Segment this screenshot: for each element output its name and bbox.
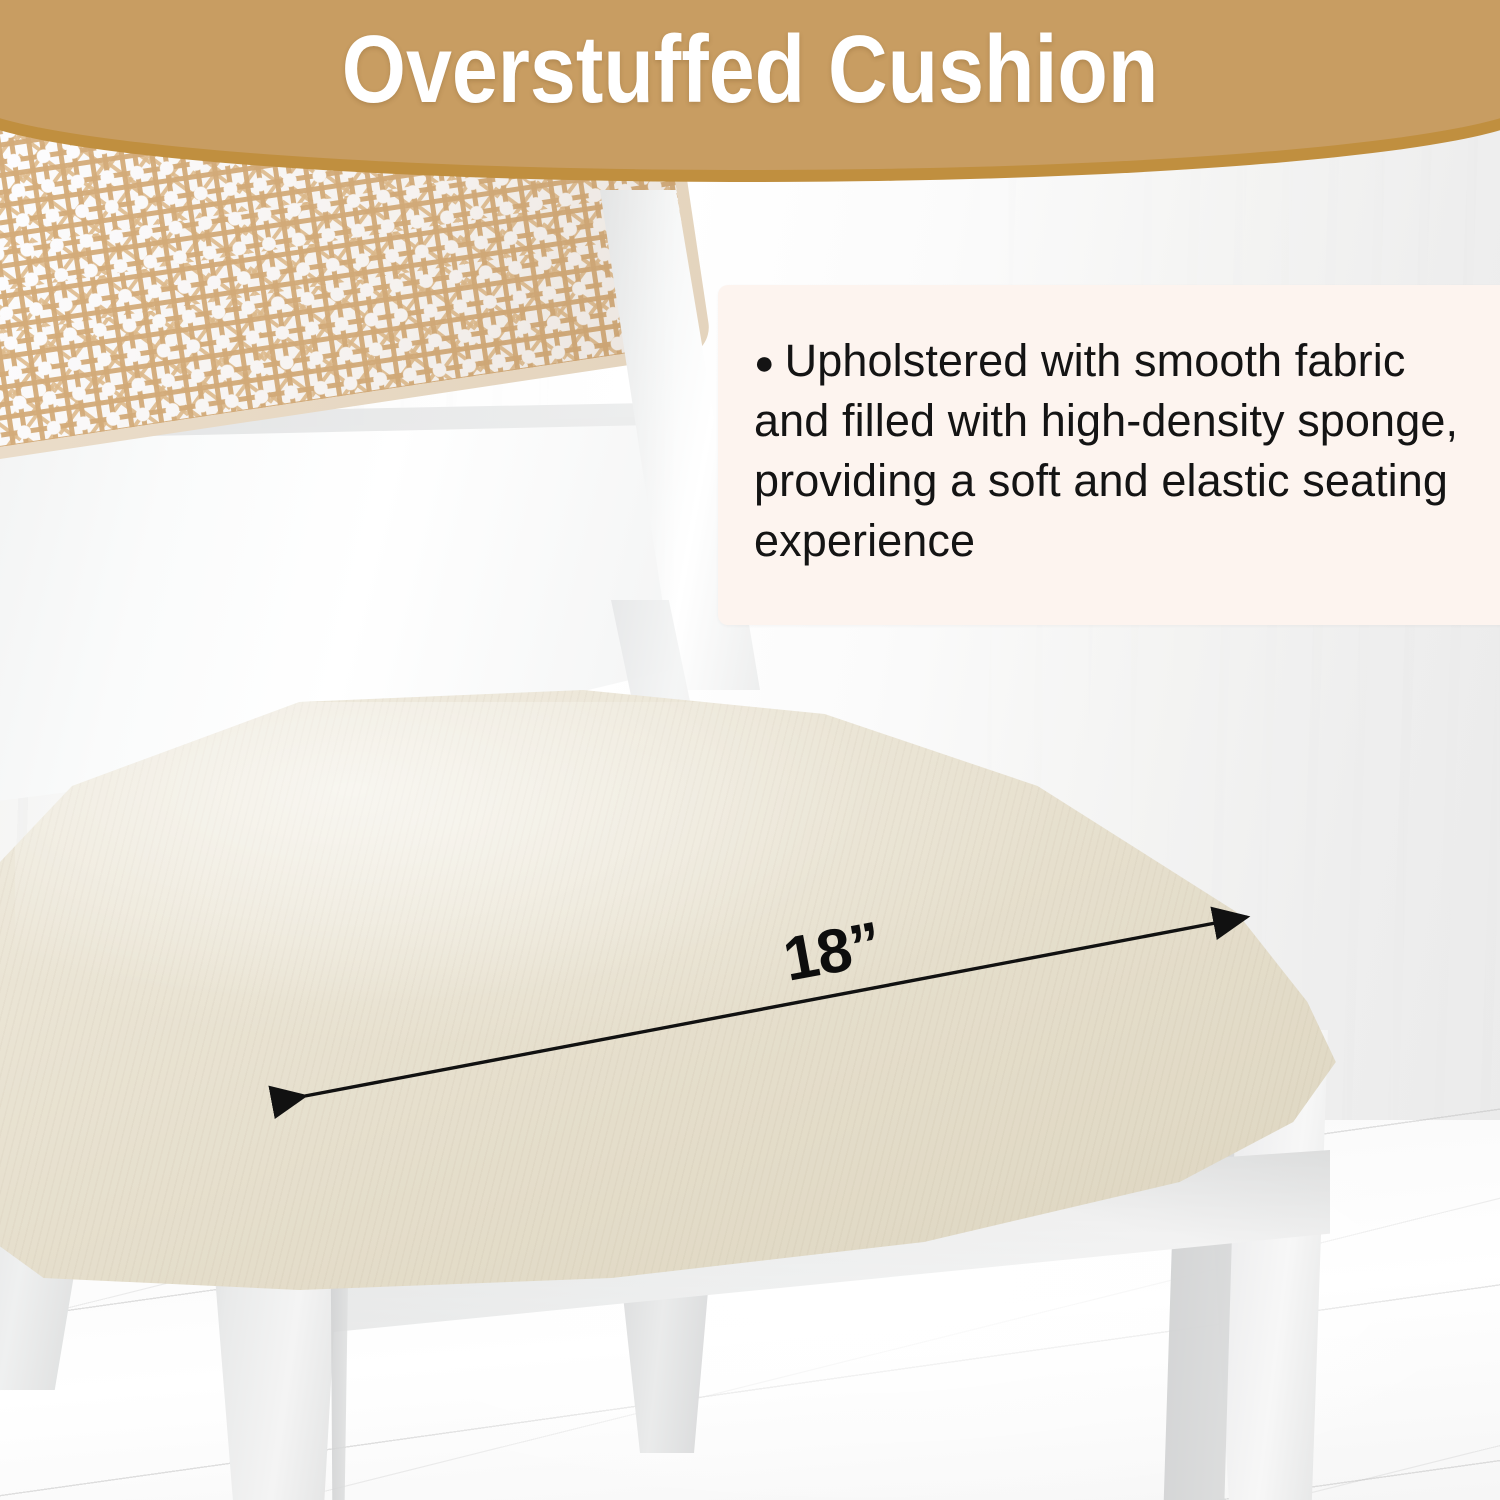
photo-scene xyxy=(0,0,1500,1500)
feature-callout-text: Upholstered with smooth fabric and fille… xyxy=(754,335,1458,566)
feature-callout-text-wrapper: ●Upholstered with smooth fabric and fill… xyxy=(754,331,1474,570)
bullet-point-icon: ● xyxy=(754,344,775,382)
feature-callout-box: ●Upholstered with smooth fabric and fill… xyxy=(718,285,1500,625)
header-title: Overstuffed Cushion xyxy=(105,0,1395,121)
product-marketing-image: 18” Overstuffed Cushion ●Upholstered wit… xyxy=(0,0,1500,1500)
